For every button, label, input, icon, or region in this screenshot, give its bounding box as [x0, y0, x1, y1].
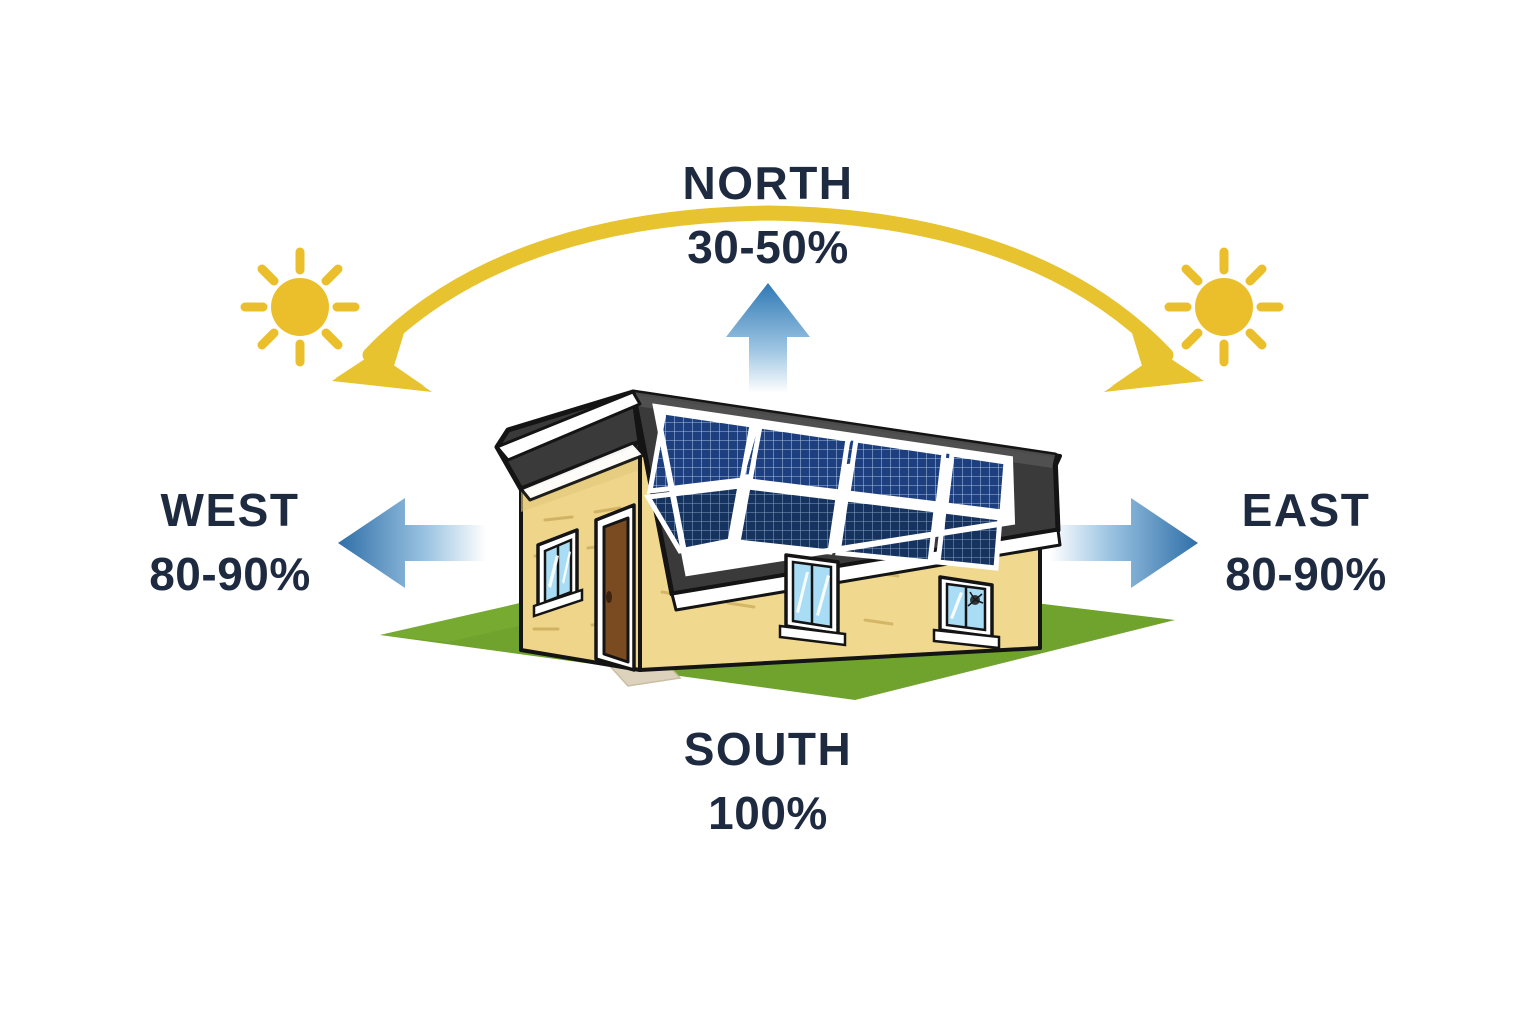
diagram-canvas: NORTH 30-50% WEST 80-90% EAST 80-90% SOU…: [0, 0, 1536, 1024]
sun-icon-right: [1169, 252, 1279, 362]
label-north: NORTH 30-50%: [568, 160, 968, 270]
label-south-direction: SOUTH: [568, 726, 968, 772]
label-west-efficiency: 80-90%: [60, 551, 400, 597]
label-south-efficiency: 100%: [568, 790, 968, 836]
label-north-direction: NORTH: [568, 160, 968, 206]
window-side-right: [934, 577, 999, 648]
solar-panel-array: [648, 407, 1012, 573]
arrow-up-icon: [726, 283, 810, 393]
label-east: EAST 80-90%: [1136, 487, 1476, 597]
door: [596, 505, 634, 670]
label-west-direction: WEST: [60, 487, 400, 533]
label-north-efficiency: 30-50%: [568, 224, 968, 270]
label-west: WEST 80-90%: [60, 487, 400, 597]
sun-icon-left: [245, 252, 355, 362]
label-south: SOUTH 100%: [568, 726, 968, 836]
house: [497, 390, 1076, 670]
window-front: [534, 530, 582, 616]
label-east-direction: EAST: [1136, 487, 1476, 533]
window-side-left: [780, 555, 845, 645]
label-east-efficiency: 80-90%: [1136, 551, 1476, 597]
